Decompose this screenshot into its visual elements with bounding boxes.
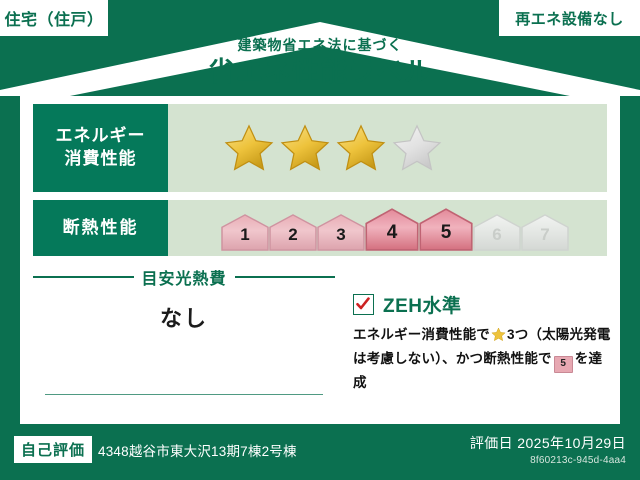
zeh-heading: ZEH水準: [353, 291, 615, 318]
energy-performance-row: エネルギー 消費性能: [33, 104, 607, 192]
energy-performance-value-band: [168, 104, 607, 192]
insulation-level-3: 3: [316, 205, 366, 251]
zeh-desc-part3: は考慮しない）、かつ断熱性能で: [353, 351, 552, 366]
page-title: 省エネ性能ラベル: [0, 56, 640, 90]
energy-performance-label: 住宅（住戸） 再エネ設備なし 建築物省エネ法に基づく 省エネ性能ラベル エネルギ…: [0, 0, 640, 480]
insulation-performance-value-band: 1234567: [168, 200, 607, 256]
insulation-level-number: 7: [540, 225, 549, 245]
tab-housing-type[interactable]: 住宅（住戸）: [0, 0, 108, 36]
title-subtitle: 建築物省エネ法に基づく: [0, 36, 640, 54]
property-address: 4348越谷市東大沢13期7棟2号棟: [98, 440, 297, 460]
energy-label-line2: 消費性能: [65, 148, 137, 171]
insulation-level-6: 6: [472, 205, 522, 251]
insulation-level-number: 4: [387, 222, 398, 244]
zeh-desc-part1: エネルギー消費性能で: [353, 327, 490, 342]
insulation-level-7: 7: [520, 205, 570, 251]
insulation-level-number: 1: [240, 225, 249, 245]
insulation-level-chip: 5: [554, 356, 573, 373]
star-rating: [168, 123, 442, 173]
energy-performance-label-block: エネルギー 消費性能: [33, 104, 168, 192]
insulation-level-scale: 1234567: [168, 205, 568, 251]
insulation-performance-row: 断熱性能 1234567: [33, 200, 607, 256]
label-title-block: 建築物省エネ法に基づく 省エネ性能ラベル: [0, 36, 640, 90]
insulation-level-number: 3: [336, 225, 345, 245]
insulation-level-number: 5: [441, 222, 452, 244]
utility-cost-value: なし: [33, 301, 335, 333]
star-icon: [491, 327, 506, 349]
zeh-desc-part2: 3つ（太陽光発電: [507, 327, 611, 342]
insulation-label: 断熱性能: [63, 217, 139, 240]
star-filled-icon: [336, 123, 386, 173]
footer-left: 自己評価 4348越谷市東大沢13期7棟2号棟: [14, 436, 297, 463]
self-evaluation-badge: 自己評価: [14, 436, 92, 463]
evaluation-id: 8f60213c-945d-4aa4: [470, 455, 626, 466]
footer-right: 評価日 2025年10月29日 8f60213c-945d-4aa4: [470, 433, 626, 466]
insulation-performance-label-block: 断熱性能: [33, 200, 168, 256]
star-filled-icon: [280, 123, 330, 173]
rule-right: [235, 276, 336, 278]
insulation-level-number: 2: [288, 225, 297, 245]
check-icon: [355, 296, 371, 312]
zeh-checkbox[interactable]: [353, 294, 374, 315]
evaluation-date: 評価日 2025年10月29日: [470, 433, 626, 453]
utility-cost-underline: [45, 394, 323, 395]
zeh-description: エネルギー消費性能で 3つ（太陽光発電 は考慮しない）、かつ断熱性能で5を達成: [353, 325, 615, 394]
insulation-level-4: 4: [364, 205, 420, 251]
rule-left: [33, 276, 134, 278]
insulation-level-number: 6: [492, 225, 501, 245]
tab-renewable-equipment[interactable]: 再エネ設備なし: [499, 0, 640, 36]
star-empty-icon: [392, 123, 442, 173]
star-filled-icon: [224, 123, 274, 173]
zeh-block: ZEH水準 エネルギー消費性能で 3つ（太陽光発電 は考慮しない）、かつ断熱性能…: [353, 291, 615, 394]
utility-cost-heading: 目安光熱費: [33, 268, 335, 286]
utility-cost-heading-text: 目安光熱費: [142, 265, 227, 289]
zeh-title: ZEH水準: [383, 291, 462, 318]
energy-label-line1: エネルギー: [56, 125, 146, 148]
content-panel: エネルギー 消費性能 断熱性能 1234567 目安光熱費 なし: [20, 96, 620, 424]
insulation-level-1: 1: [220, 205, 270, 251]
insulation-level-5: 5: [418, 205, 474, 251]
insulation-level-2: 2: [268, 205, 318, 251]
